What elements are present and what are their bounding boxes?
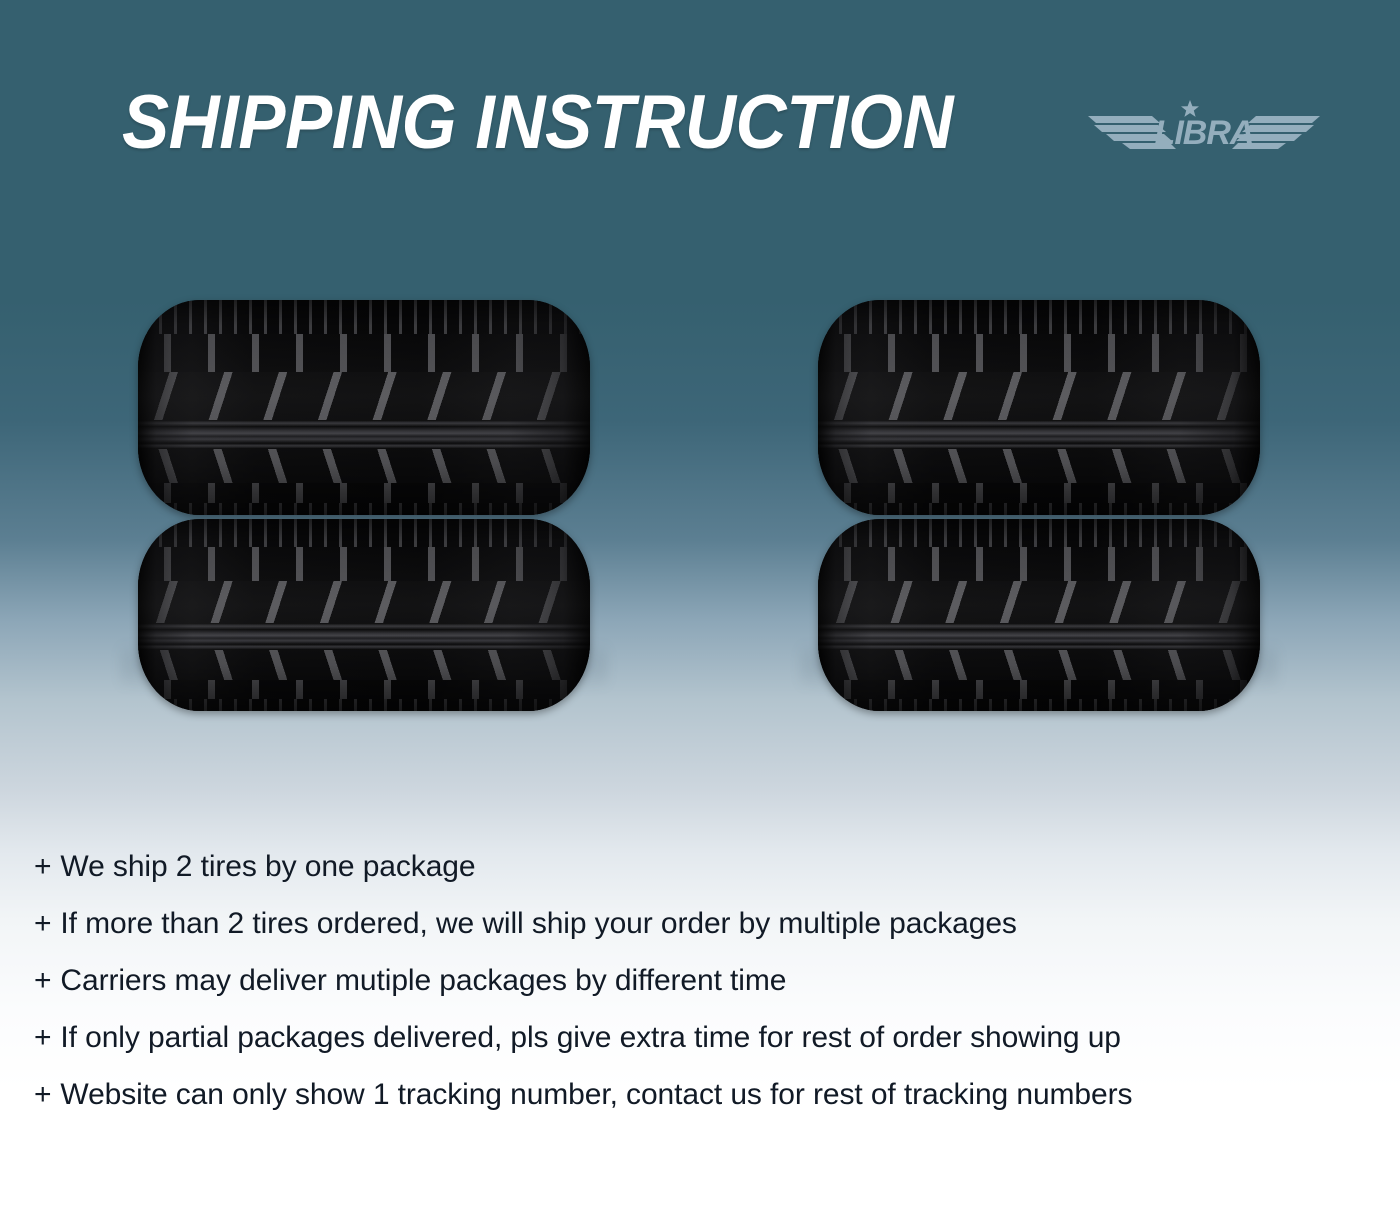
note-line: +We ship 2 tires by one package (34, 838, 1364, 895)
bullet-plus-icon: + (34, 952, 51, 1009)
note-text: Carriers may deliver mutiple packages by… (60, 964, 786, 997)
note-text: Website can only show 1 tracking number,… (60, 1078, 1132, 1111)
bullet-plus-icon: + (34, 1066, 51, 1123)
note-line: +If only partial packages delivered, pls… (34, 1009, 1364, 1066)
note-line: +Website can only show 1 tracking number… (34, 1066, 1364, 1123)
tire-lower (818, 519, 1260, 711)
note-text: If only partial packages delivered, pls … (60, 1021, 1120, 1054)
libra-logo: LIBRA (1086, 94, 1322, 156)
note-text: We ship 2 tires by one package (60, 850, 475, 883)
note-line: +Carriers may deliver mutiple packages b… (34, 952, 1364, 1009)
banner-header: SHIPPING INSTRUCTION (0, 82, 1400, 172)
tire-stack-right (818, 300, 1260, 711)
tire-illustration (0, 300, 1400, 780)
page-title: SHIPPING INSTRUCTION (122, 82, 953, 164)
bullet-plus-icon: + (34, 1009, 51, 1066)
shipping-notes-list: +We ship 2 tires by one package +If more… (34, 838, 1364, 1123)
shipping-instruction-banner: SHIPPING INSTRUCTION (0, 0, 1400, 1220)
tire-upper (818, 300, 1260, 515)
note-line: +If more than 2 tires ordered, we will s… (34, 895, 1364, 952)
bullet-plus-icon: + (34, 838, 51, 895)
tire-lower (138, 519, 590, 711)
bullet-plus-icon: + (34, 895, 51, 952)
tire-stack-left (138, 300, 590, 711)
note-text: If more than 2 tires ordered, we will sh… (60, 907, 1016, 940)
tire-upper (138, 300, 590, 515)
svg-text:LIBRA: LIBRA (1155, 114, 1254, 152)
